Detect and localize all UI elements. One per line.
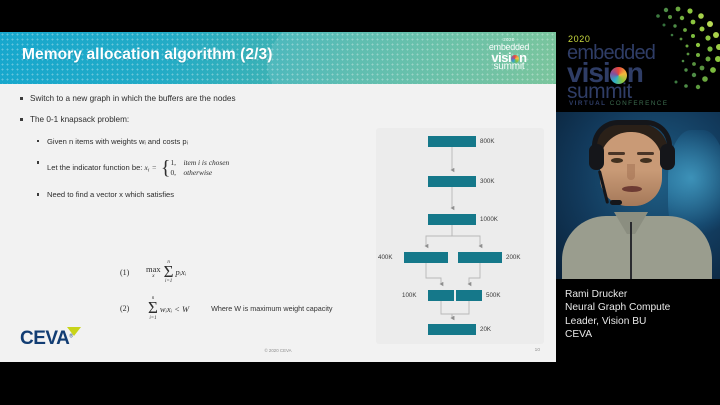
embedded-vision-summit-logo: 2020 embedded visin summit VIRTUAL CONFE… bbox=[556, 0, 720, 112]
summation-operator: n Σ i=1 bbox=[164, 260, 174, 284]
graph-node-label: 800K bbox=[480, 138, 494, 145]
headset-earcup-right bbox=[660, 144, 675, 170]
case-value: 1, bbox=[170, 158, 183, 168]
headset-microphone-icon bbox=[610, 200, 622, 205]
virtual-word: VIRTUAL bbox=[569, 100, 607, 107]
equation-row: (2) n Σ i=1 wᵢxᵢ < W Where W is maximum … bbox=[120, 296, 333, 320]
indicator-lhs-sub: i bbox=[148, 168, 150, 174]
graph-node-label: 20K bbox=[480, 326, 491, 333]
graph-node bbox=[428, 290, 454, 301]
sigma-glyph: Σ bbox=[148, 301, 158, 315]
graph-node bbox=[404, 252, 448, 263]
graph-node-label: 200K bbox=[506, 254, 520, 261]
graph-node-label: 400K bbox=[378, 254, 392, 261]
bullet-item-indicator: Let the indicator function be: xi = { 1,… bbox=[34, 158, 368, 178]
sigma-lower-limit: i=1 bbox=[165, 279, 172, 284]
case-condition: item i is chosen bbox=[183, 158, 229, 167]
speaker-eye-right bbox=[640, 158, 652, 163]
slide-header-banner: Memory allocation algorithm (2/3) 2020 e… bbox=[0, 32, 556, 84]
slide-copyright: © 2020 CEVA bbox=[0, 348, 556, 353]
ceva-triangle-icon bbox=[67, 327, 81, 336]
presentation-slide: Memory allocation algorithm (2/3) 2020 e… bbox=[0, 32, 556, 362]
headset-earcup-left bbox=[589, 144, 604, 170]
piecewise-definition: { 1,item i is chosen 0,otherwise bbox=[161, 158, 229, 178]
speaker-info-panel: Rami Drucker Neural Graph Compute Leader… bbox=[556, 281, 720, 405]
headset-band-icon bbox=[592, 120, 672, 146]
slide-bullet-list: Switch to a new graph in which the buffe… bbox=[18, 94, 368, 212]
speaker-eyebrow-left bbox=[608, 152, 625, 155]
equation-body: wᵢxᵢ < W bbox=[160, 304, 189, 314]
case-value: 0, bbox=[170, 168, 183, 178]
equation-number: (1) bbox=[120, 268, 146, 277]
bullet-item: The 0-1 knapsack problem: bbox=[18, 115, 368, 125]
graph-node-label: 500K bbox=[486, 292, 500, 299]
ceva-logo-text: CEVA bbox=[20, 328, 69, 349]
screen: Memory allocation algorithm (2/3) 2020 e… bbox=[0, 0, 720, 405]
case-condition: otherwise bbox=[183, 168, 212, 177]
speaker-company: CEVA bbox=[565, 328, 711, 341]
right-rail: 2020 embedded visin summit VIRTUAL CONFE… bbox=[556, 0, 720, 405]
graph-node-label: 1000K bbox=[480, 216, 498, 223]
speaker-title-line-1: Neural Graph Compute bbox=[565, 301, 711, 314]
equation-note: Where W is maximum weight capacity bbox=[211, 304, 332, 314]
graph-node bbox=[428, 214, 476, 225]
header-summit-logo: 2020 embedded visin summit bbox=[476, 38, 542, 78]
speaker-title-line-2: Leader, Vision BU bbox=[565, 315, 711, 328]
equation-body: pᵢxᵢ bbox=[176, 267, 187, 277]
graph-edges bbox=[376, 128, 544, 344]
buffer-graph-diagram: 800K 300K 1000K 400K 200K 100K 500K 20K bbox=[376, 128, 544, 344]
slide-page-number: 10 bbox=[535, 348, 540, 353]
max-subscript: x bbox=[152, 274, 154, 280]
speaker-nose bbox=[627, 164, 635, 180]
equation-number: (2) bbox=[120, 304, 146, 313]
left-brace-glyph: { bbox=[161, 160, 171, 176]
graph-node bbox=[456, 290, 482, 301]
sigma-glyph: Σ bbox=[164, 265, 174, 279]
sigma-lower-limit: i=1 bbox=[149, 316, 156, 321]
graph-node-label: 100K bbox=[402, 292, 416, 299]
slide-title: Memory allocation algorithm (2/3) bbox=[22, 46, 272, 64]
speaker-video-feed[interactable] bbox=[556, 112, 720, 279]
bullet-item: Given n items with weights wᵢ and costs … bbox=[34, 137, 368, 147]
speaker-eye-left bbox=[611, 158, 623, 163]
header-logo-summit: summit bbox=[476, 62, 542, 72]
graph-node bbox=[428, 324, 476, 335]
conference-word: CONFERENCE bbox=[610, 100, 669, 107]
graph-node bbox=[428, 136, 476, 147]
graph-node bbox=[458, 252, 502, 263]
indicator-equals: = bbox=[152, 163, 157, 172]
bullet-item: Switch to a new graph in which the buffe… bbox=[18, 94, 368, 104]
piecewise-row: 0,otherwise bbox=[170, 168, 212, 177]
max-operator: max x bbox=[146, 265, 161, 279]
speaker-eyebrow-right bbox=[637, 152, 654, 155]
equation-row: (1) max x n Σ i=1 pᵢxᵢ bbox=[120, 260, 333, 284]
piecewise-row: 1,item i is chosen bbox=[170, 158, 229, 167]
equation-block: (1) max x n Σ i=1 pᵢxᵢ (2) n Σ i=1 bbox=[120, 260, 333, 333]
graph-node bbox=[428, 176, 476, 187]
bullet-text: Given n items with weights wᵢ and costs … bbox=[47, 137, 188, 146]
bullet-text: Let the indicator function be: bbox=[47, 163, 142, 172]
summation-operator: n Σ i=1 bbox=[148, 296, 158, 320]
headset-cord bbox=[630, 222, 632, 279]
bullet-item: Need to find a vector x which satisfies bbox=[34, 190, 368, 200]
speaker-name: Rami Drucker bbox=[565, 288, 711, 301]
speaker-mouth bbox=[622, 186, 642, 192]
virtual-conference-label: VIRTUAL CONFERENCE bbox=[569, 100, 668, 107]
ceva-logo: CEVA® bbox=[20, 328, 98, 350]
piecewise-rows: 1,item i is chosen 0,otherwise bbox=[170, 158, 229, 178]
graph-node-label: 300K bbox=[480, 178, 494, 185]
